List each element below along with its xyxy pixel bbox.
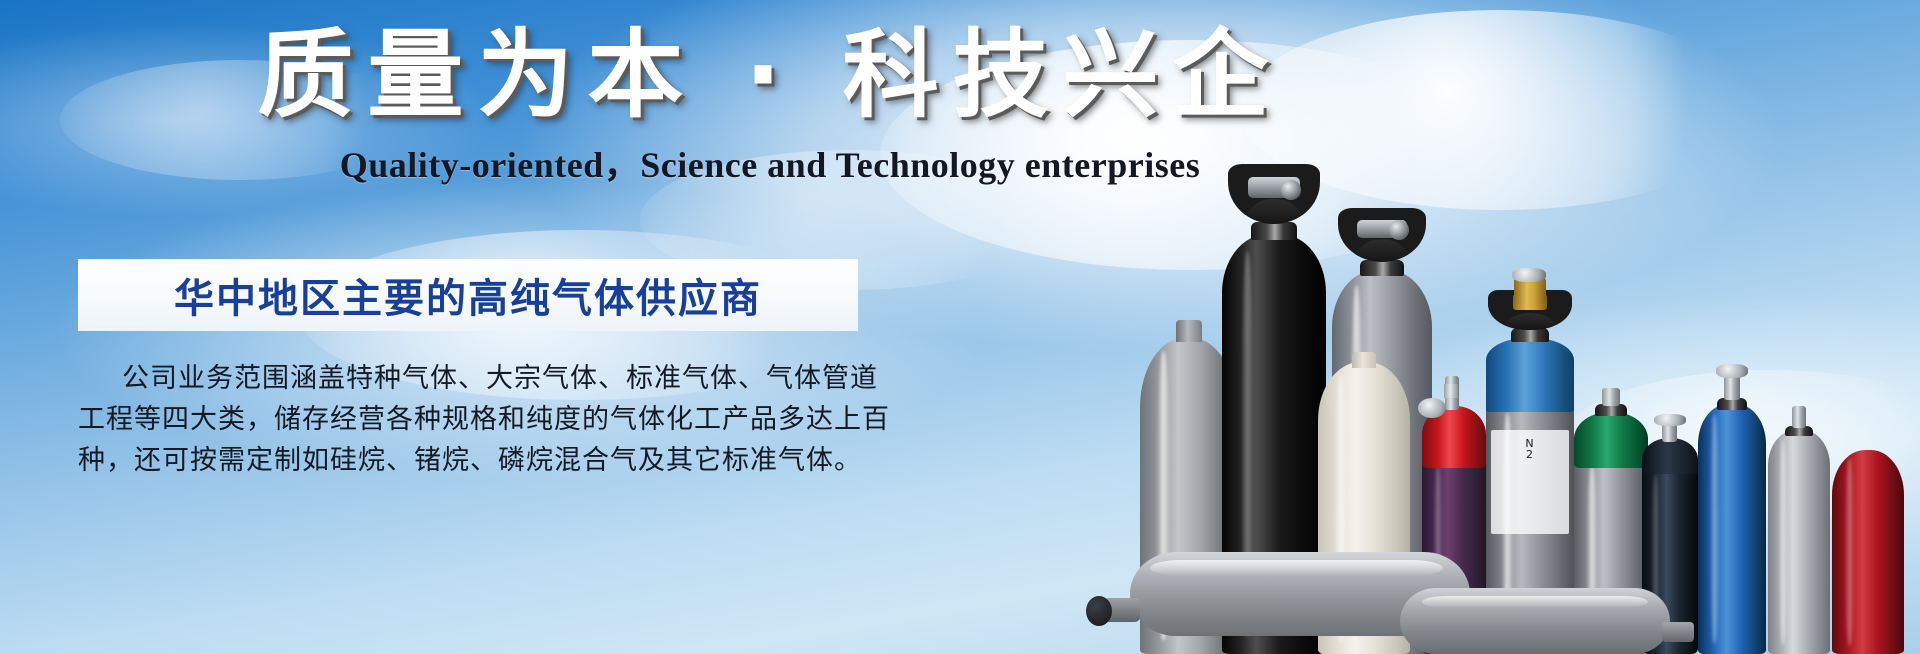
highlight-box-label: 华中地区主要的高纯气体供应商 xyxy=(174,266,762,324)
cylinder-valve-guard xyxy=(1338,208,1426,262)
gas-cylinder-group-photo: N2 xyxy=(1150,0,1920,654)
cylinder-handwheel xyxy=(1716,364,1748,378)
tank-valve xyxy=(1662,622,1694,642)
dark-red-cylinder xyxy=(1832,442,1904,654)
cylinder-valve-guard xyxy=(1228,164,1320,224)
highlight-box: 华中地区主要的高纯气体供应商 xyxy=(78,259,858,331)
cylinder-neck-plug xyxy=(1176,320,1202,342)
cylinder-blue-band xyxy=(1486,338,1574,412)
description-paragraph: 公司业务范围涵盖特种气体、大宗气体、标准气体、气体管道 工程等四大类，储存经营各… xyxy=(78,358,868,481)
cylinder-label-text: N2 xyxy=(1491,430,1568,460)
cylinder-label: N2 xyxy=(1491,430,1568,534)
cylinder-valve-stem xyxy=(1444,384,1458,398)
silver-aluminium-cylinder xyxy=(1768,392,1830,654)
cylinder-neck xyxy=(1352,352,1376,368)
blue-aluminium-cylinder xyxy=(1698,358,1766,654)
cylinder-valve xyxy=(1602,388,1620,406)
cylinder-valve xyxy=(1792,406,1807,428)
paragraph-line: 工程等四大类，储存经营各种规格和纯度的气体化工产品多达上百 xyxy=(78,399,868,440)
tank-knob xyxy=(1086,596,1112,626)
cylinder-handwheel xyxy=(1654,414,1686,426)
paragraph-line: 种，还可按需定制如硅烷、锗烷、磷烷混合气及其它标准气体。 xyxy=(78,440,868,481)
cylinder-green-shoulder xyxy=(1574,412,1648,468)
cylinder-handwheel xyxy=(1418,398,1446,418)
cylinder-shoulder xyxy=(1642,438,1698,474)
paragraph-line: 公司业务范围涵盖特种气体、大宗气体、标准气体、气体管道 xyxy=(78,358,868,399)
promo-banner: 质量为本 · 科技兴企 Quality-oriented，Science and… xyxy=(0,0,1920,654)
cylinder-handwheel xyxy=(1512,268,1546,282)
horizontal-grey-tank-small xyxy=(1400,588,1670,654)
